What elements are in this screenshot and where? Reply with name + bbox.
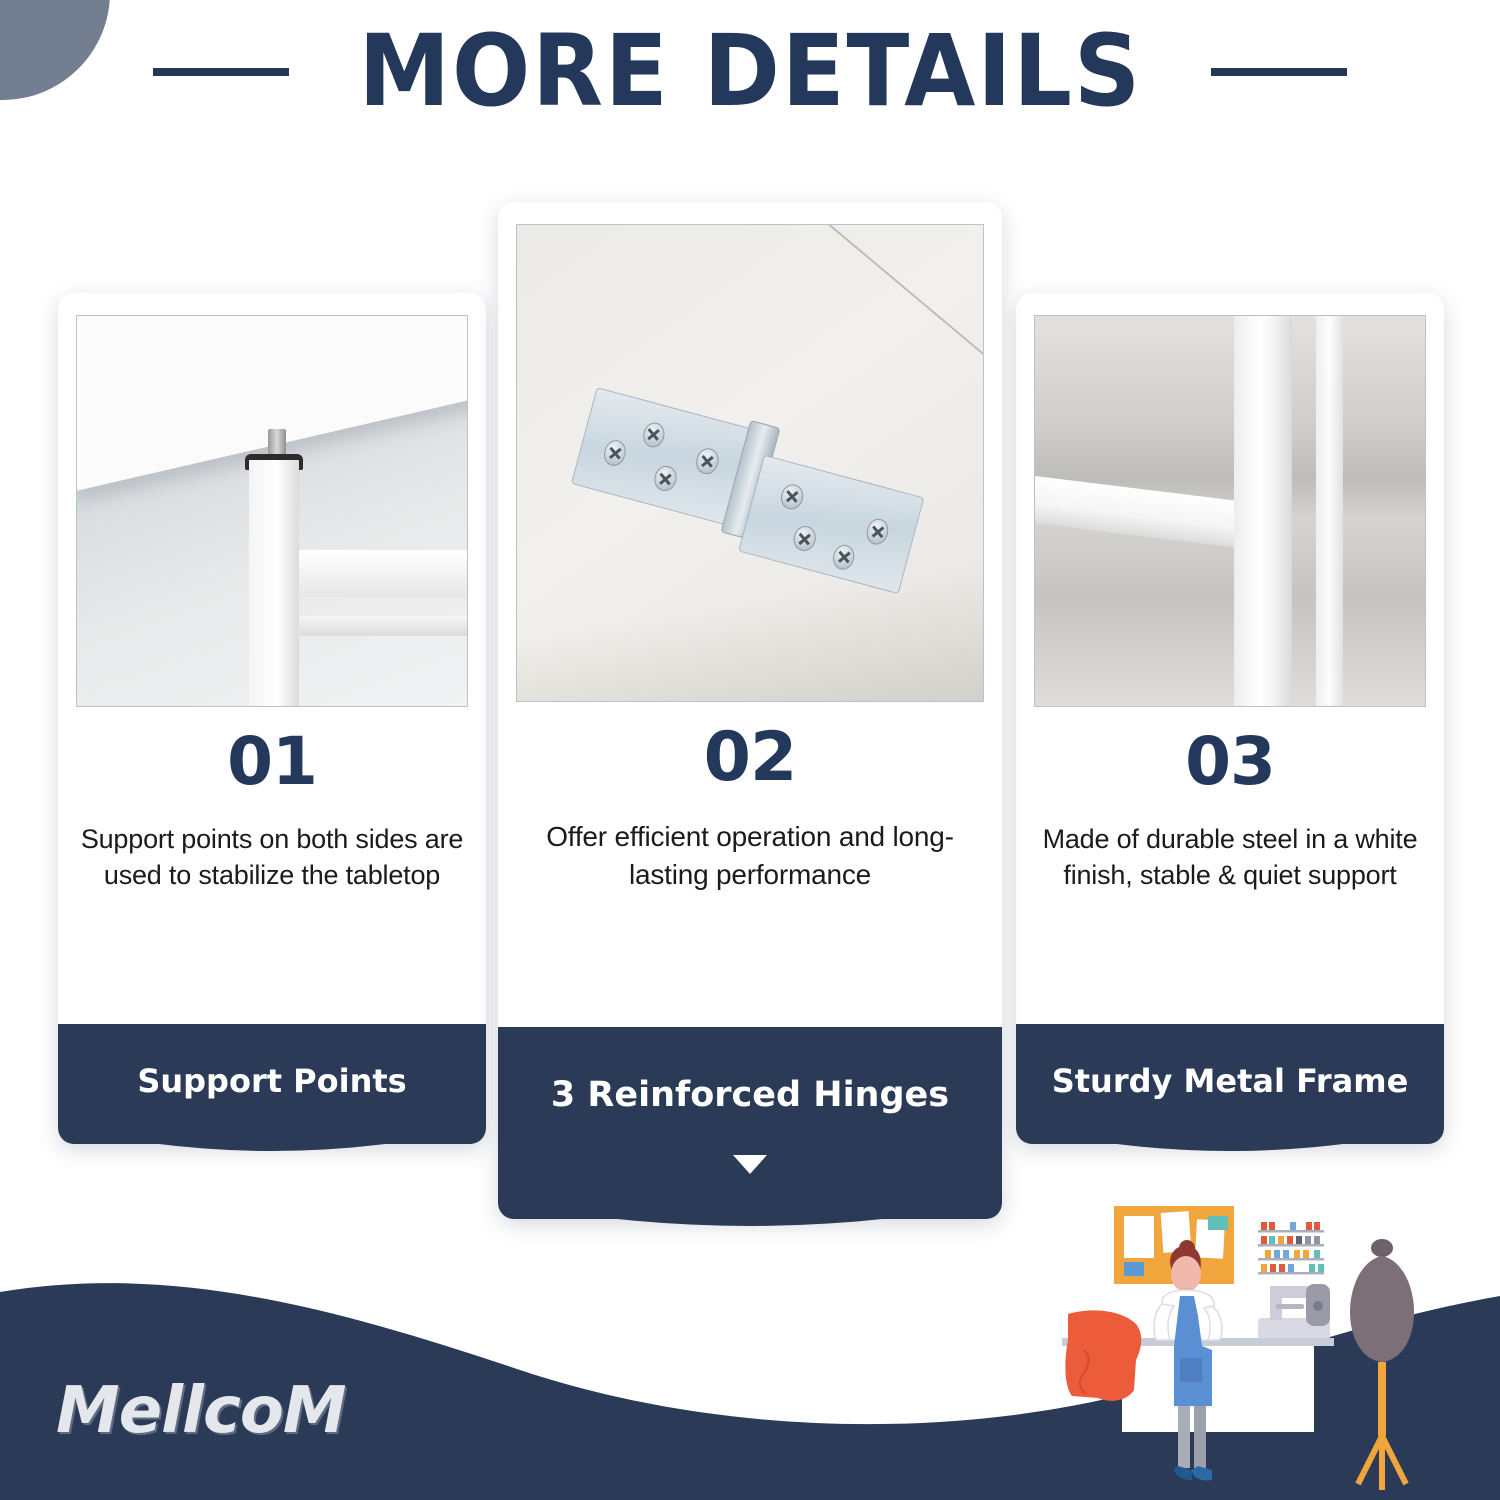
card-body-03: 03 Made of durable steel in a white fini… (1016, 293, 1444, 1024)
footer-arc-03 (1016, 1118, 1444, 1178)
feature-card-01[interactable]: 01 Support points on both sides are used… (58, 293, 486, 1144)
product-photo-support-point (76, 315, 468, 707)
step-number-01: 01 (227, 729, 317, 795)
title-dash-right (1211, 68, 1347, 76)
footer-label-02: 3 Reinforced Hinges (551, 1075, 949, 1115)
title-dash-left (153, 68, 289, 76)
card-body-02: 02 Offer efficient operation and long-la… (498, 202, 1002, 1027)
card-footer-03: Sturdy Metal Frame (1016, 1024, 1444, 1144)
card-footer-01: Support Points (58, 1024, 486, 1144)
brand-logo: MellcoM (56, 1374, 346, 1448)
footer-arc-02 (498, 1193, 1002, 1253)
step-description-03: Made of durable steel in a white finish,… (1034, 821, 1426, 893)
step-description-01: Support points on both sides are used to… (76, 821, 468, 893)
footer-arc-01 (58, 1118, 486, 1178)
product-photo-metal-frame (1034, 315, 1426, 707)
seamstress-workshop-illustration (1062, 1200, 1482, 1500)
product-photo-hinge (516, 224, 984, 702)
step-description-02: Offer efficient operation and long-lasti… (516, 818, 984, 893)
footer-label-01: Support Points (137, 1062, 406, 1100)
feature-card-02[interactable]: 02 Offer efficient operation and long-la… (498, 202, 1002, 1219)
feature-card-03[interactable]: 03 Made of durable steel in a white fini… (1016, 293, 1444, 1144)
page-header: MORE DETAILS (0, 22, 1500, 121)
step-number-02: 02 (704, 724, 797, 792)
card-body-01: 01 Support points on both sides are used… (58, 293, 486, 1024)
chevron-down-icon[interactable] (733, 1155, 767, 1174)
footer-label-03: Sturdy Metal Frame (1052, 1062, 1409, 1100)
feature-cards-row: 01 Support points on both sides are used… (0, 0, 1500, 1260)
card-footer-02: 3 Reinforced Hinges (498, 1027, 1002, 1219)
step-number-03: 03 (1185, 729, 1275, 795)
page-title: MORE DETAILS (358, 22, 1142, 121)
